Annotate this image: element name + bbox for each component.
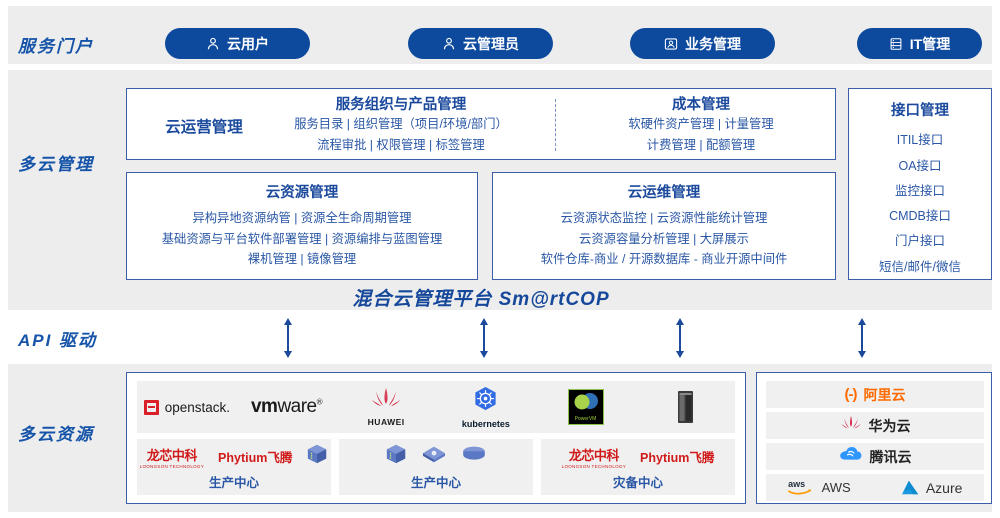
kubernetes-label: kubernetes: [462, 419, 510, 429]
server-rack-icon: [635, 390, 735, 424]
huawei-logo: HUAWEI: [336, 387, 436, 427]
phytium-logo: Phytium飞腾: [218, 447, 292, 466]
cloud-resource-management-card[interactable]: 云资源管理 异构异地资源纳管 | 资源全生命周期管理 基础资源与平台软件部署管理…: [126, 172, 478, 280]
switch-icon: [421, 443, 447, 470]
public-cloud-huawei[interactable]: 华为云: [766, 412, 984, 439]
card-title: 云资源管理: [127, 185, 477, 202]
portal-pill-business-mgmt[interactable]: 业务管理: [630, 28, 775, 59]
portal-pill-it-mgmt[interactable]: IT管理: [857, 28, 982, 59]
aws-label: AWS: [822, 480, 851, 495]
portal-pill-cloud-admin[interactable]: 云管理员: [408, 28, 553, 59]
vendor-logo-strip: openstack. vmvmwareware®: [137, 381, 735, 433]
server-list-icon: [889, 37, 903, 51]
card-title: 接口管理: [849, 103, 991, 120]
block-line: 计费管理 | 配额管理: [567, 135, 835, 155]
powervm-logo: PowerVM: [536, 389, 636, 425]
phytium-logo: Phytium飞腾: [640, 447, 714, 466]
api-line: CMDB接口: [849, 204, 991, 229]
card-line: 云资源状态监控 | 云资源性能统计管理: [493, 208, 835, 228]
openstack-mark-icon: [144, 400, 159, 415]
card-line: 软件仓库-商业 / 开源数据库 - 商业开源中间件: [493, 249, 835, 269]
public-cloud-aws-azure[interactable]: aws AWS Azure: [766, 474, 984, 501]
portal-pill-label: 云用户: [227, 37, 269, 51]
card-line: 裸机管理 | 镜像管理: [127, 249, 477, 269]
loongson-label: 龙芯中科: [569, 445, 619, 464]
storage-icon: [461, 445, 487, 468]
api-line: ITIL接口: [849, 128, 991, 153]
kubernetes-helm-icon: [472, 386, 499, 418]
cloud-oam-management-card[interactable]: 云运维管理 云资源状态监控 | 云资源性能统计管理 云资源容量分析管理 | 大屏…: [492, 172, 836, 280]
private-cloud-card[interactable]: openstack. vmvmwareware®: [126, 372, 746, 504]
user-icon: [206, 37, 220, 51]
resources-band: 多云资源 openstack. vmvmwareware®: [8, 364, 992, 512]
portal-pill-label: 业务管理: [685, 37, 741, 51]
block-title: 成本管理: [567, 97, 835, 114]
server-cube-icon: [385, 443, 407, 470]
data-center-name: 灾备中心: [613, 472, 663, 491]
data-center-production-1[interactable]: 龙芯中科 LOONGSON TECHNOLOGY Phytium飞腾: [137, 439, 331, 495]
block-title: 服务组织与产品管理: [267, 97, 535, 114]
kubernetes-logo: kubernetes: [436, 386, 536, 429]
platform-name: 混合云管理平台 Sm@rtCOP: [126, 284, 836, 311]
block-line: 软硬件资产管理 | 计量管理: [567, 114, 835, 134]
loongson-sublabel: LOONGSON TECHNOLOGY: [562, 464, 626, 469]
public-cloud-label: 腾讯云: [870, 447, 912, 467]
api-band: API 驱动: [8, 316, 992, 360]
row-label-management: 多云管理: [18, 150, 94, 175]
data-center-row: 龙芯中科 LOONGSON TECHNOLOGY Phytium飞腾: [137, 439, 735, 495]
management-band: 多云管理 云运营管理 服务组织与产品管理 服务目录 | 组织管理（项目/环境/部…: [8, 70, 992, 310]
portal-pill-cloud-user[interactable]: 云用户: [165, 28, 310, 59]
public-cloud-card[interactable]: (-) 阿里云 华为云: [756, 372, 992, 504]
loongson-logo: 龙芯中科 LOONGSON TECHNOLOGY: [562, 445, 626, 469]
card-line: 云资源容量分析管理 | 大屏展示: [493, 229, 835, 249]
row-label-resources: 多云资源: [18, 420, 94, 445]
openstack-logo: openstack.: [137, 400, 237, 415]
alibaba-cloud-logo: (-): [845, 386, 857, 403]
huawei-cloud-logo: [840, 415, 862, 437]
card-title: 云运维管理: [493, 185, 835, 202]
cloud-operations-card[interactable]: 云运营管理 服务组织与产品管理 服务目录 | 组织管理（项目/环境/部门） 流程…: [126, 88, 836, 160]
card-line: 异构异地资源纳管 | 资源全生命周期管理: [127, 208, 477, 228]
bidirectional-arrow-icon: [281, 318, 295, 358]
public-cloud-label: 华为云: [869, 416, 911, 436]
row-label-api: API 驱动: [18, 326, 97, 351]
svg-text:aws: aws: [788, 479, 805, 489]
row-label-portal: 服务门户: [18, 32, 94, 57]
api-line: 短信/邮件/微信: [849, 255, 991, 280]
api-line: OA接口: [849, 154, 991, 179]
data-center-production-2[interactable]: 生产中心: [339, 439, 533, 495]
data-center-disaster-recovery[interactable]: 龙芯中科 LOONGSON TECHNOLOGY Phytium飞腾 灾备中心: [541, 439, 735, 495]
vmware-logo: vmvmwareware®: [237, 396, 337, 418]
user-icon: [442, 37, 456, 51]
api-line: 门户接口: [849, 229, 991, 254]
data-center-name: 生产中心: [411, 472, 461, 491]
data-center-name: 生产中心: [209, 472, 259, 491]
portal-band: 服务门户 云用户 云管理员 业务管理 IT管理: [8, 6, 992, 64]
huawei-label: HUAWEI: [368, 417, 405, 427]
card-divider: [555, 99, 556, 151]
public-cloud-label: 阿里云: [864, 385, 906, 405]
block-line: 服务目录 | 组织管理（项目/环境/部门）: [267, 114, 535, 134]
card-line: 基础资源与平台软件部署管理 | 资源编排与蓝图管理: [127, 229, 477, 249]
openstack-label: openstack.: [165, 400, 230, 415]
bidirectional-arrow-icon: [477, 318, 491, 358]
public-cloud-tencent[interactable]: 腾讯云: [766, 443, 984, 470]
cost-management-block: 成本管理 软硬件资产管理 | 计量管理 计费管理 | 配额管理: [567, 97, 835, 155]
azure-logo: Azure: [901, 479, 963, 496]
interface-management-card[interactable]: 接口管理 ITIL接口 OA接口 监控接口 CMDB接口 门户接口 短信/邮件/…: [848, 88, 992, 280]
api-line: 监控接口: [849, 179, 991, 204]
huawei-flower-icon: [370, 387, 402, 416]
tencent-cloud-logo: [839, 445, 863, 468]
loongson-sublabel: LOONGSON TECHNOLOGY: [140, 464, 204, 469]
server-cube-icon: [306, 443, 328, 470]
powervm-label: PowerVM: [575, 416, 597, 424]
public-cloud-alibaba[interactable]: (-) 阿里云: [766, 381, 984, 408]
bidirectional-arrow-icon: [855, 318, 869, 358]
block-line: 流程审批 | 权限管理 | 标签管理: [267, 135, 535, 155]
bidirectional-arrow-icon: [673, 318, 687, 358]
loongson-label: 龙芯中科: [147, 445, 197, 464]
screen-icon: [664, 37, 678, 51]
azure-label: Azure: [926, 480, 963, 496]
architecture-diagram: 服务门户 云用户 云管理员 业务管理 IT管理 多云: [0, 0, 1000, 518]
portal-pill-label: 云管理员: [463, 37, 519, 51]
service-product-management-block: 服务组织与产品管理 服务目录 | 组织管理（项目/环境/部门） 流程审批 | 权…: [267, 97, 535, 155]
portal-pill-label: IT管理: [910, 37, 950, 51]
aws-logo: aws AWS: [788, 479, 851, 497]
loongson-logo: 龙芯中科 LOONGSON TECHNOLOGY: [140, 445, 204, 469]
cloud-operations-title: 云运营管理: [145, 115, 263, 137]
